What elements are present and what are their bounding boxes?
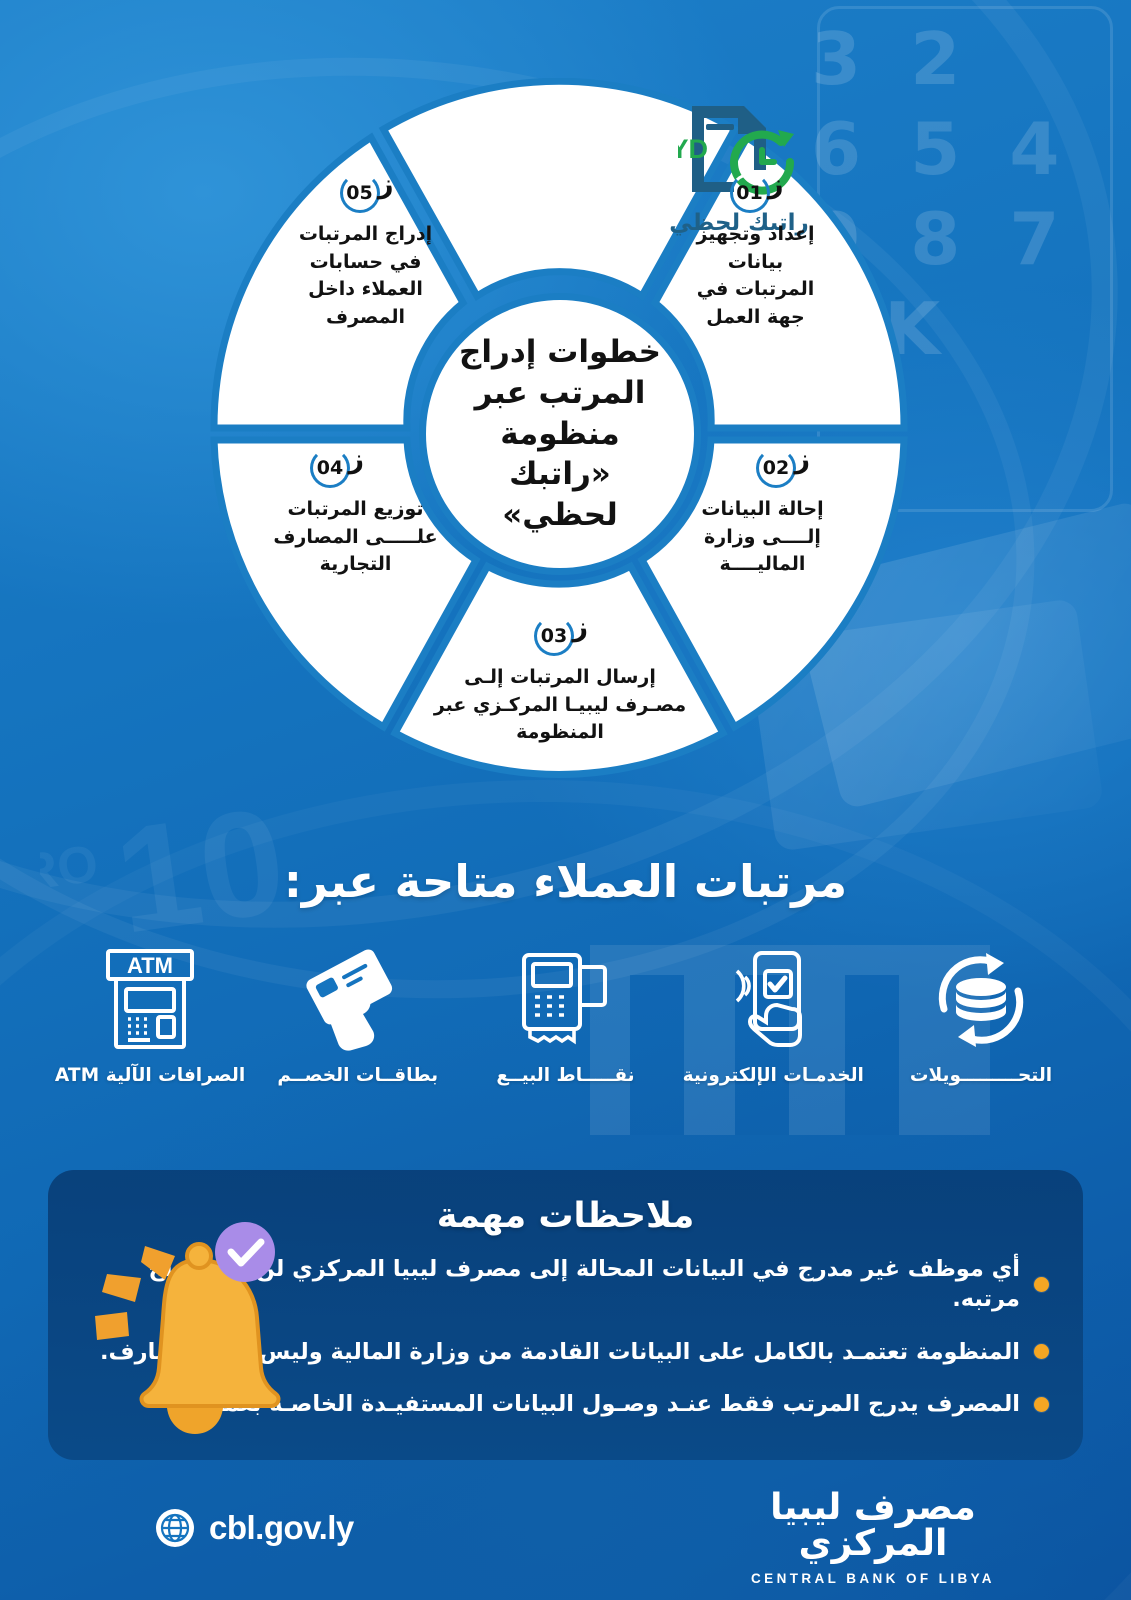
step-text: إحالة البيانات إلــــى وزارة الماليــــة [660,496,865,579]
important-notes-panel: ملاحظات مهمة أي موظف غير مدرج في البيانا… [48,1170,1083,1460]
channel-label: الخدمـات الإلكترونية [683,1065,864,1086]
money-transfer-icon [928,945,1034,1053]
step-number: 01 [730,173,770,213]
wheel-step-01[interactable]: 01 ز إعداد وتجهيز بيانات المرتبات في جهة… [653,173,858,331]
website-link[interactable]: cbl.gov.ly [155,1508,354,1548]
bullet-dot-icon [1034,1344,1049,1359]
notes-title: ملاحظات مهمة [82,1196,1049,1236]
channel-pos[interactable]: نقـــــاط البيــع [471,945,661,1086]
channels-heading: مرتبات العملاء متاحة عبر: [0,855,1131,908]
channel-transfers[interactable]: التحـــــــــويلات [886,945,1076,1086]
step-badge-letter: ز [794,444,810,475]
bank-name-english: CENTRAL BANK OF LIBYA [723,1571,1023,1586]
wheel-step-04[interactable]: 04 ز توزيع المرتبات علـــــى المصارف الت… [253,448,458,579]
channel-label: نقـــــاط البيــع [496,1065,634,1086]
note-item: أي موظف غير مدرج في البيانات المحالة إلى… [82,1254,1049,1315]
step-badge-letter: ز [768,169,784,200]
process-wheel-section: خطوات إدراج المرتب عبر منظومة «راتبك لحظ… [0,60,1131,780]
debit-card-hand-icon [303,945,413,1053]
channels-row: ATM الصرافات الآلية ATM [55,945,1076,1130]
note-item: المنظومة تعتمـد بالكامل على البيانات الق… [82,1337,1049,1367]
step-number: 02 [756,448,796,488]
bullet-dot-icon [1034,1277,1049,1292]
note-item: المصرف يدرج المرتب فقط عنـد وصـول البيان… [82,1389,1049,1419]
bank-name-arabic: مصرف ليبيا المركزي [723,1490,1023,1562]
step-text: إعداد وتجهيز بيانات المرتبات في جهة العم… [653,221,858,331]
wheel-center-title: خطوات إدراج المرتب عبر منظومة «راتبك لحظ… [426,332,694,537]
step-number: 05 [340,173,380,213]
process-wheel: خطوات إدراج المرتب عبر منظومة «راتبك لحظ… [187,78,932,778]
mobile-payment-icon [721,945,825,1053]
step-badge-letter: ز [378,169,394,200]
channel-atm[interactable]: ATM الصرافات الآلية ATM [55,945,245,1086]
step-number: 04 [310,448,350,488]
wheel-step-03[interactable]: 03 ز إرسال المرتبات إلـى مصـرف ليبيـا ال… [419,616,701,747]
step-badge-04: 04 ز [310,448,362,488]
central-bank-logo: مصرف ليبيا المركزي CENTRAL BANK OF LIBYA [723,1490,1023,1586]
step-text: توزيع المرتبات علـــــى المصارف التجارية [253,496,458,579]
lyd-label: LYD [678,134,708,164]
note-text: أي موظف غير مدرج في البيانات المحالة إلى… [82,1254,1020,1315]
step-badge-letter: ز [348,444,364,475]
wheel-step-02[interactable]: 02 ز إحالة البيانات إلــــى وزارة المالي… [660,448,865,579]
channel-label: الصرافات الآلية ATM [55,1065,245,1086]
step-badge-02: 02 ز [756,448,808,488]
step-text: إرسال المرتبات إلـى مصـرف ليبيـا المركـز… [419,664,701,747]
step-badge-03: 03 ز [534,616,586,656]
note-text: المصرف يدرج المرتب فقط عنـد وصـول البيان… [178,1389,1021,1419]
wheel-step-05[interactable]: 05 ز إدراج المرتبات في حسابات العملاء دا… [263,173,468,331]
step-badge-05: 05 ز [340,173,392,213]
channel-label: بطاقــات الخصــم [277,1065,438,1086]
website-url: cbl.gov.ly [209,1509,354,1547]
wheel-center-hub: خطوات إدراج المرتب عبر منظومة «راتبك لحظ… [419,293,701,575]
step-badge-letter: ز [572,612,588,643]
channel-label: التحـــــــــويلات [910,1065,1052,1086]
atm-machine-icon: ATM [102,945,198,1053]
pos-terminal-icon [516,945,616,1053]
step-badge-01: 01 ز [730,173,782,213]
footer: مصرف ليبيا المركزي CENTRAL BANK OF LIBYA… [0,1470,1131,1600]
step-number: 03 [534,616,574,656]
globe-icon [155,1508,195,1548]
svg-text:ATM: ATM [127,953,173,978]
channel-eservices[interactable]: الخدمـات الإلكترونية [678,945,868,1086]
channel-debit-cards[interactable]: بطاقــات الخصــم [263,945,453,1086]
bullet-dot-icon [1034,1397,1049,1412]
note-text: المنظومة تعتمـد بالكامل على البيانات الق… [100,1337,1020,1367]
step-text: إدراج المرتبات في حسابات العملاء داخل ال… [263,221,468,331]
